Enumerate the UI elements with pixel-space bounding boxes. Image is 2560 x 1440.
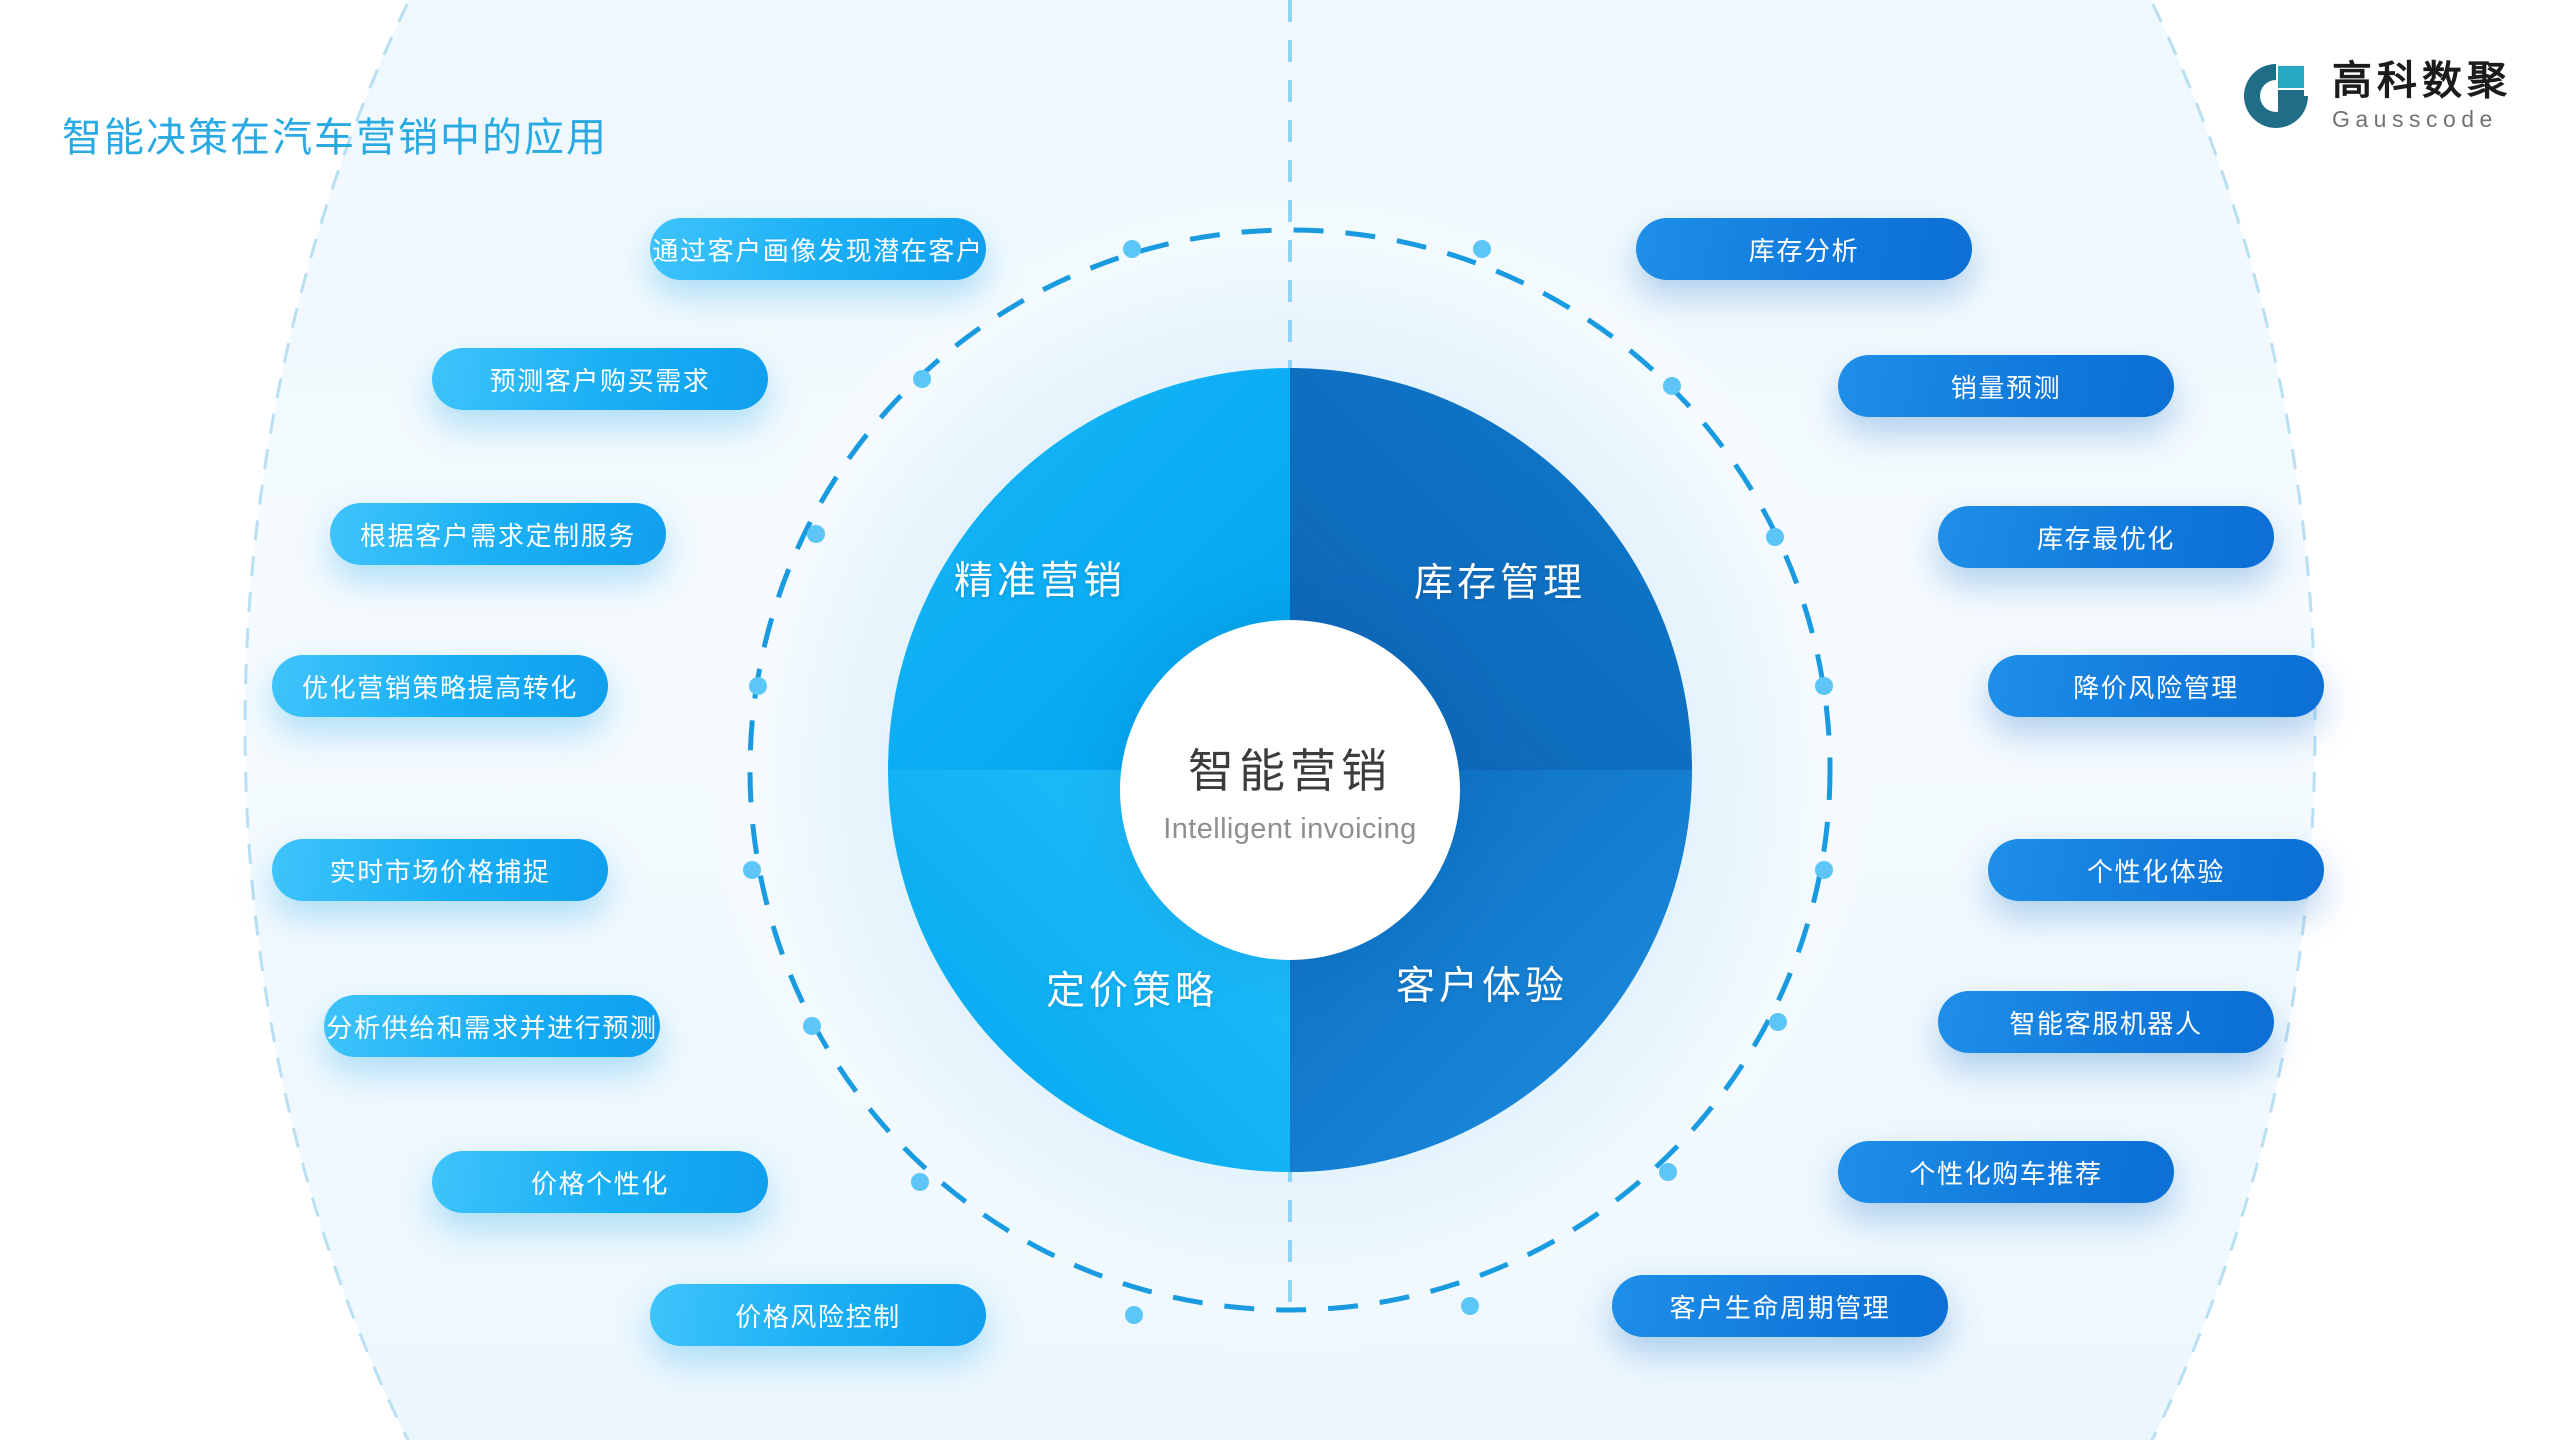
brand-logo: 高科数聚 Gausscode: [2238, 58, 2512, 134]
right-item-6[interactable]: 智能客服机器人: [1938, 991, 2274, 1053]
gausscode-mark-icon: [2238, 58, 2314, 134]
right-item-4[interactable]: 降价风险管理: [1988, 655, 2324, 717]
right-item-3[interactable]: 库存最优化: [1938, 506, 2274, 568]
left-item-6[interactable]: 分析供给和需求并进行预测: [324, 995, 660, 1057]
quadrant-label-top-right: 库存管理: [1414, 552, 1586, 608]
center-hub: 智能营销 Intelligent invoicing: [1120, 620, 1460, 960]
quadrant-label-bottom-left: 定价策略: [1046, 960, 1218, 1016]
right-item-7[interactable]: 个性化购车推荐: [1838, 1141, 2174, 1203]
left-item-8[interactable]: 价格风险控制: [650, 1284, 986, 1346]
left-item-5[interactable]: 实时市场价格捕捉: [272, 839, 608, 901]
left-item-7[interactable]: 价格个性化: [432, 1151, 768, 1213]
quadrant-label-bottom-right: 客户体验: [1396, 955, 1568, 1011]
diagram-canvas: 智能决策在汽车营销中的应用 高科数聚 Gausscode 精准营销 库存管理 定…: [0, 0, 2560, 1440]
left-item-4[interactable]: 优化营销策略提高转化: [272, 655, 608, 717]
right-item-8[interactable]: 客户生命周期管理: [1612, 1275, 1948, 1337]
page-title: 智能决策在汽车营销中的应用: [62, 105, 608, 163]
left-item-2[interactable]: 预测客户购买需求: [432, 348, 768, 410]
left-item-1[interactable]: 通过客户画像发现潜在客户: [650, 218, 986, 280]
quadrant-label-top-left: 精准营销: [954, 550, 1126, 606]
hub-title-cn: 智能营销: [1188, 735, 1392, 801]
hub-title-en: Intelligent invoicing: [1163, 813, 1416, 846]
right-item-2[interactable]: 销量预测: [1838, 355, 2174, 417]
left-item-3[interactable]: 根据客户需求定制服务: [330, 503, 666, 565]
right-item-1[interactable]: 库存分析: [1636, 218, 1972, 280]
logo-name-cn: 高科数聚: [2332, 61, 2512, 101]
right-item-5[interactable]: 个性化体验: [1988, 839, 2324, 901]
logo-name-en: Gausscode: [2332, 108, 2512, 131]
